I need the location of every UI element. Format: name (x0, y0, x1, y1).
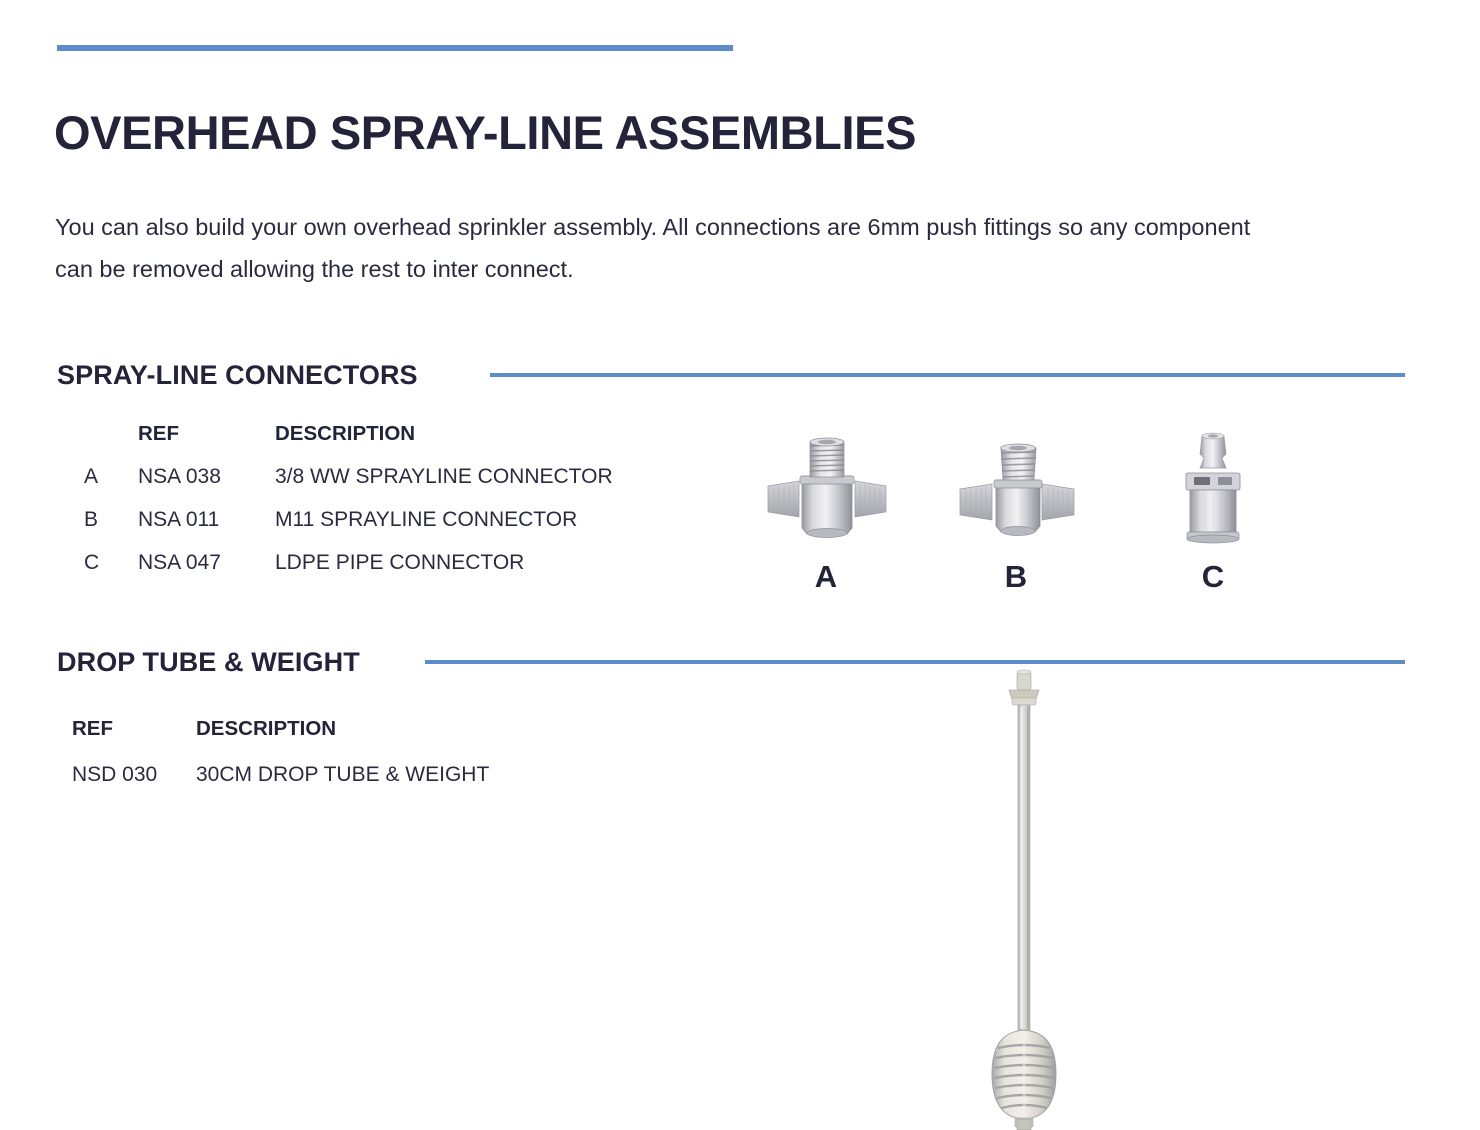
product-image-connector-c (1150, 428, 1276, 550)
column-header-ref: REF (72, 705, 196, 753)
cell-description: 30CM DROP TUBE & WEIGHT (196, 753, 616, 796)
table-row: B NSA 011 M11 SPRAYLINE CONNECTOR (84, 498, 695, 541)
cell-key: B (84, 498, 138, 541)
cell-description: M11 SPRAYLINE CONNECTOR (275, 498, 695, 541)
cell-description: LDPE PIPE CONNECTOR (275, 541, 695, 584)
figure-caption-a: A (806, 559, 846, 595)
table-row: A NSA 038 3/8 WW SPRAYLINE CONNECTOR (84, 455, 695, 498)
top-accent-bar (57, 45, 733, 51)
spray-line-connectors-table: REF DESCRIPTION A NSA 038 3/8 WW SPRAYLI… (84, 412, 695, 584)
table-header-row: REF DESCRIPTION (72, 705, 616, 753)
product-image-connector-b (952, 432, 1082, 550)
column-header-key (84, 412, 138, 455)
page-title: OVERHEAD SPRAY-LINE ASSEMBLIES (54, 105, 916, 160)
section-rule-drop-tube-and-weight (425, 660, 1405, 664)
drop-tube-and-weight-table: REF DESCRIPTION NSD 030 30CM DROP TUBE &… (72, 705, 616, 796)
cell-ref: NSA 011 (138, 498, 275, 541)
cell-ref: NSA 047 (138, 541, 275, 584)
column-header-description: DESCRIPTION (196, 705, 616, 753)
intro-paragraph: You can also build your own overhead spr… (55, 206, 1255, 290)
column-header-description: DESCRIPTION (275, 412, 695, 455)
column-header-ref: REF (138, 412, 275, 455)
cell-ref: NSA 038 (138, 455, 275, 498)
table-header-row: REF DESCRIPTION (84, 412, 695, 455)
section-heading-drop-tube-and-weight: DROP TUBE & WEIGHT (57, 647, 360, 678)
table-row: C NSA 047 LDPE PIPE CONNECTOR (84, 541, 695, 584)
product-image-connector-a (762, 432, 892, 550)
table-row: NSD 030 30CM DROP TUBE & WEIGHT (72, 753, 616, 796)
cell-ref: NSD 030 (72, 753, 196, 796)
figure-caption-c: C (1193, 559, 1233, 595)
figure-caption-b: B (996, 559, 1036, 595)
cell-key: A (84, 455, 138, 498)
product-image-drop-tube-and-weight (960, 668, 1090, 1130)
cell-description: 3/8 WW SPRAYLINE CONNECTOR (275, 455, 695, 498)
cell-key: C (84, 541, 138, 584)
section-rule-spray-line-connectors (490, 373, 1405, 377)
section-heading-spray-line-connectors: SPRAY-LINE CONNECTORS (57, 360, 418, 391)
